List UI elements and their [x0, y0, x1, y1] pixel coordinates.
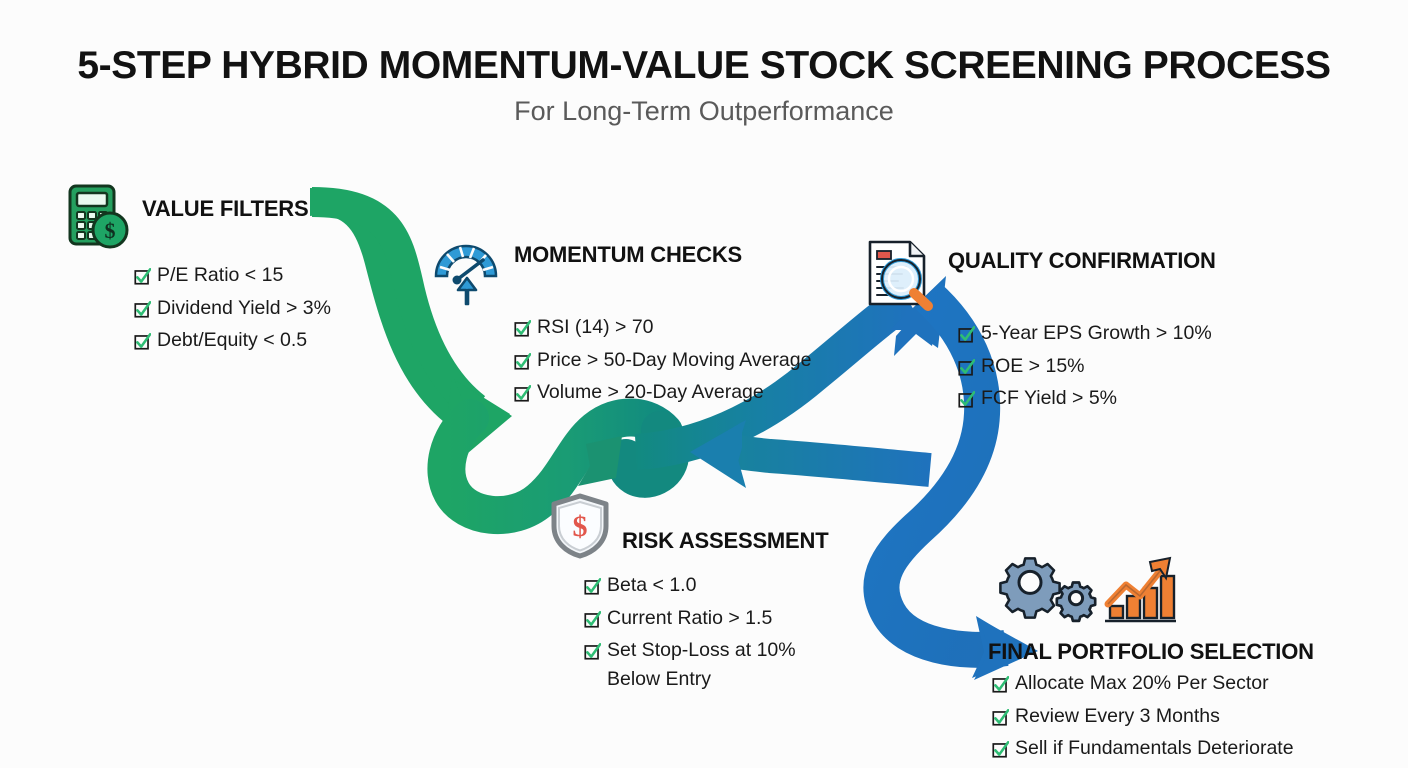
bullet-text: FCF Yield > 5% [981, 384, 1117, 413]
checkbox-checked-icon [992, 706, 1009, 735]
infographic-canvas: 5-STEP HYBRID MOMENTUM-VALUE STOCK SCREE… [0, 0, 1408, 768]
speedometer-gauge-icon [428, 234, 504, 311]
bullet-text: Volume > 20-Day Average [537, 378, 764, 407]
bullet-text: Set Stop-Loss at 10% Below Entry [607, 636, 796, 693]
list-item: Volume > 20-Day Average [514, 378, 811, 411]
checkbox-checked-icon [958, 323, 975, 352]
checkbox-checked-icon [514, 382, 531, 411]
bullet-text: Price > 50-Day Moving Average [537, 346, 811, 375]
document-magnifier-icon [858, 238, 938, 317]
step-momentum-checks[interactable]: MOMENTUM CHECKS RSI (14) > 70 [428, 234, 811, 411]
step-title: FINAL PORTFOLIO SELECTION [988, 639, 1314, 665]
checkbox-checked-icon [134, 330, 151, 359]
step-value-filters[interactable]: $ VALUE FILTERS P/E Ratio < 15 [60, 180, 331, 359]
step-title: RISK ASSESSMENT [622, 528, 828, 554]
step-risk-assessment[interactable]: $ RISK ASSESSMENT Beta < 1.0 [548, 492, 828, 694]
checkbox-checked-icon [992, 673, 1009, 702]
bullet-text: Beta < 1.0 [607, 571, 696, 600]
checkbox-checked-icon [514, 317, 531, 346]
calculator-dollar-icon: $ [60, 180, 132, 257]
growth-bar-chart [1105, 558, 1176, 621]
list-item: Debt/Equity < 0.5 [134, 326, 331, 359]
bullet-list: RSI (14) > 70 Price > 50-Day Moving Aver… [514, 313, 811, 411]
bullet-list: Beta < 1.0 Current Ratio > 1.5 [584, 571, 828, 694]
checkbox-checked-icon [584, 640, 601, 669]
svg-text:$: $ [573, 510, 588, 543]
bullet-text: 5-Year EPS Growth > 10% [981, 319, 1212, 348]
list-item: Review Every 3 Months [992, 702, 1314, 735]
shield-dollar-icon: $ [548, 492, 612, 565]
bullet-text: ROE > 15% [981, 352, 1085, 381]
checkbox-checked-icon [992, 738, 1009, 767]
list-item: ROE > 15% [958, 352, 1216, 385]
bullet-list: 5-Year EPS Growth > 10% ROE > 15% [958, 319, 1216, 417]
step-final-portfolio-selection[interactable]: FINAL PORTFOLIO SELECTION Allocate Max 2… [988, 552, 1314, 767]
step-quality-confirmation[interactable]: QUALITY CONFIRMATION 5-Year EPS Growth >… [858, 238, 1216, 417]
bullet-list: P/E Ratio < 15 Dividend Yield > 3% [134, 261, 331, 359]
bullet-text: Dividend Yield > 3% [157, 294, 331, 323]
bullet-text: P/E Ratio < 15 [157, 261, 283, 290]
list-item: Set Stop-Loss at 10% Below Entry [584, 636, 828, 693]
list-item: Price > 50-Day Moving Average [514, 346, 811, 379]
list-item: Dividend Yield > 3% [134, 294, 331, 327]
bullet-text: Sell if Fundamentals Deteriorate [1015, 734, 1294, 763]
bullet-text: Debt/Equity < 0.5 [157, 326, 307, 355]
list-item: Current Ratio > 1.5 [584, 604, 828, 637]
checkbox-checked-icon [584, 608, 601, 637]
bullet-text: RSI (14) > 70 [537, 313, 654, 342]
list-item: P/E Ratio < 15 [134, 261, 331, 294]
gears-growth-chart-icon [992, 552, 1176, 633]
list-item: Allocate Max 20% Per Sector [992, 669, 1314, 702]
checkbox-checked-icon [134, 265, 151, 294]
step-title: MOMENTUM CHECKS [514, 242, 742, 268]
gear-large [1000, 558, 1059, 617]
list-item: Sell if Fundamentals Deteriorate [992, 734, 1314, 767]
checkbox-checked-icon [958, 356, 975, 385]
checkbox-checked-icon [958, 388, 975, 417]
checkbox-checked-icon [134, 298, 151, 327]
checkbox-checked-icon [514, 350, 531, 379]
bullet-text: Review Every 3 Months [1015, 702, 1220, 731]
list-item: Beta < 1.0 [584, 571, 828, 604]
bullet-text: Current Ratio > 1.5 [607, 604, 772, 633]
bullet-text: Allocate Max 20% Per Sector [1015, 669, 1269, 698]
list-item: FCF Yield > 5% [958, 384, 1216, 417]
list-item: RSI (14) > 70 [514, 313, 811, 346]
gear-small [1057, 583, 1095, 621]
step-title: VALUE FILTERS [142, 196, 308, 222]
bullet-list: Allocate Max 20% Per Sector Review Every… [992, 669, 1314, 767]
list-item: 5-Year EPS Growth > 10% [958, 319, 1216, 352]
svg-text:$: $ [105, 218, 116, 243]
checkbox-checked-icon [584, 575, 601, 604]
step-title: QUALITY CONFIRMATION [948, 248, 1216, 274]
